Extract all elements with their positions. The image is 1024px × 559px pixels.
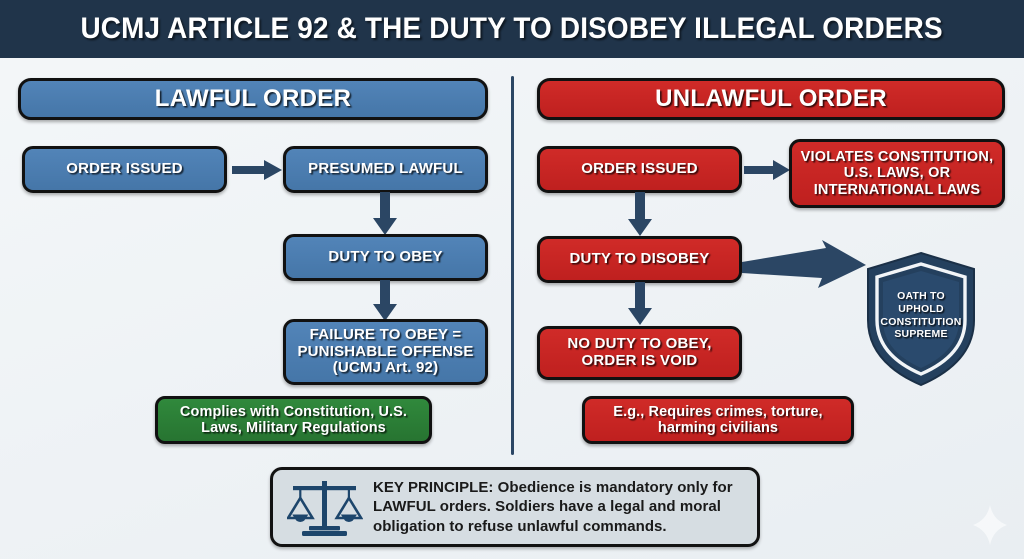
unlawful-note-examples: E.g., Requires crimes, torture, harming … [582,396,854,444]
lawful-step-duty-to-obey[interactable]: DUTY TO OBEY [283,234,488,281]
infographic-canvas: UCMJ ARTICLE 92 & THE DUTY TO DISOBEY IL… [0,0,1024,559]
arrow-lawful-duty-to-failure [372,280,398,322]
key-principle-panel: KEY PRINCIPLE: Obedience is mandatory on… [270,467,760,547]
column-divider [511,76,514,455]
lawful-step-failure-to-obey[interactable]: FAILURE TO OBEY = PUNISHABLE OFFENSE (UC… [283,319,488,385]
unlawful-column-header: UNLAWFUL ORDER [537,78,1005,120]
scales-of-justice-icon [287,476,363,538]
page-title: UCMJ ARTICLE 92 & THE DUTY TO DISOBEY IL… [81,12,943,46]
arrow-unlawful-order-to-duty-disobey [627,192,653,237]
lawful-column-header: LAWFUL ORDER [18,78,488,120]
unlawful-step-no-duty-void[interactable]: NO DUTY TO OBEY, ORDER IS VOID [537,326,742,380]
arrow-lawful-presumed-to-duty [372,192,398,236]
unlawful-step-order-issued[interactable]: ORDER ISSUED [537,146,742,193]
four-point-star-icon [972,505,1008,545]
key-principle-text: KEY PRINCIPLE: Obedience is mandatory on… [373,478,743,536]
unlawful-step-duty-to-disobey[interactable]: DUTY TO DISOBEY [537,236,742,283]
arrow-lawful-order-to-presumed [232,158,284,182]
arrow-disobey-to-shield [742,240,868,296]
oath-shield-emblem: OATH TO UPHOLD CONSTITUTION SUPREME [862,250,980,388]
arrow-unlawful-order-to-violates [744,158,792,182]
lawful-step-order-issued[interactable]: ORDER ISSUED [22,146,227,193]
lawful-step-presumed-lawful[interactable]: PRESUMED LAWFUL [283,146,488,193]
title-bar: UCMJ ARTICLE 92 & THE DUTY TO DISOBEY IL… [0,0,1024,58]
arrow-disobey-to-void [627,282,653,326]
lawful-note-complies: Complies with Constitution, U.S. Laws, M… [155,396,432,444]
unlawful-step-violates-laws[interactable]: VIOLATES CONSTITUTION, U.S. LAWS, OR INT… [789,139,1005,208]
